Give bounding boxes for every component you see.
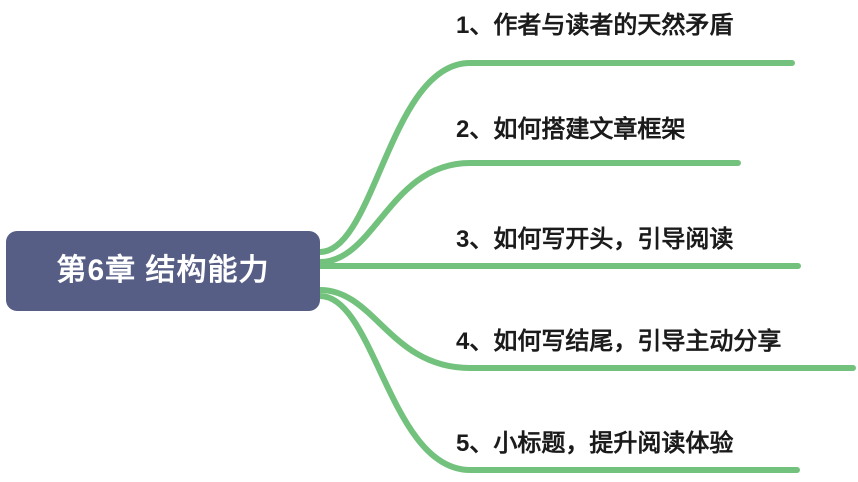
mindmap-canvas: 第6章 结构能力 1、作者与读者的天然矛盾2、如何搭建文章框架3、如何写开头，引… bbox=[0, 0, 858, 482]
root-node-label: 第6章 结构能力 bbox=[56, 256, 269, 286]
leaf-label-2[interactable]: 2、如何搭建文章框架 bbox=[456, 118, 685, 142]
leaf-label-5[interactable]: 5、小标题，提升阅读体验 bbox=[456, 432, 733, 456]
leaf-label-1[interactable]: 1、作者与读者的天然矛盾 bbox=[456, 14, 733, 38]
leaf-label-4[interactable]: 4、如何写结尾，引导主动分享 bbox=[456, 330, 781, 354]
leaf-label-3[interactable]: 3、如何写开头，引导阅读 bbox=[456, 228, 733, 252]
root-node[interactable]: 第6章 结构能力 bbox=[6, 231, 320, 311]
branch-line-1[interactable] bbox=[320, 63, 792, 252]
